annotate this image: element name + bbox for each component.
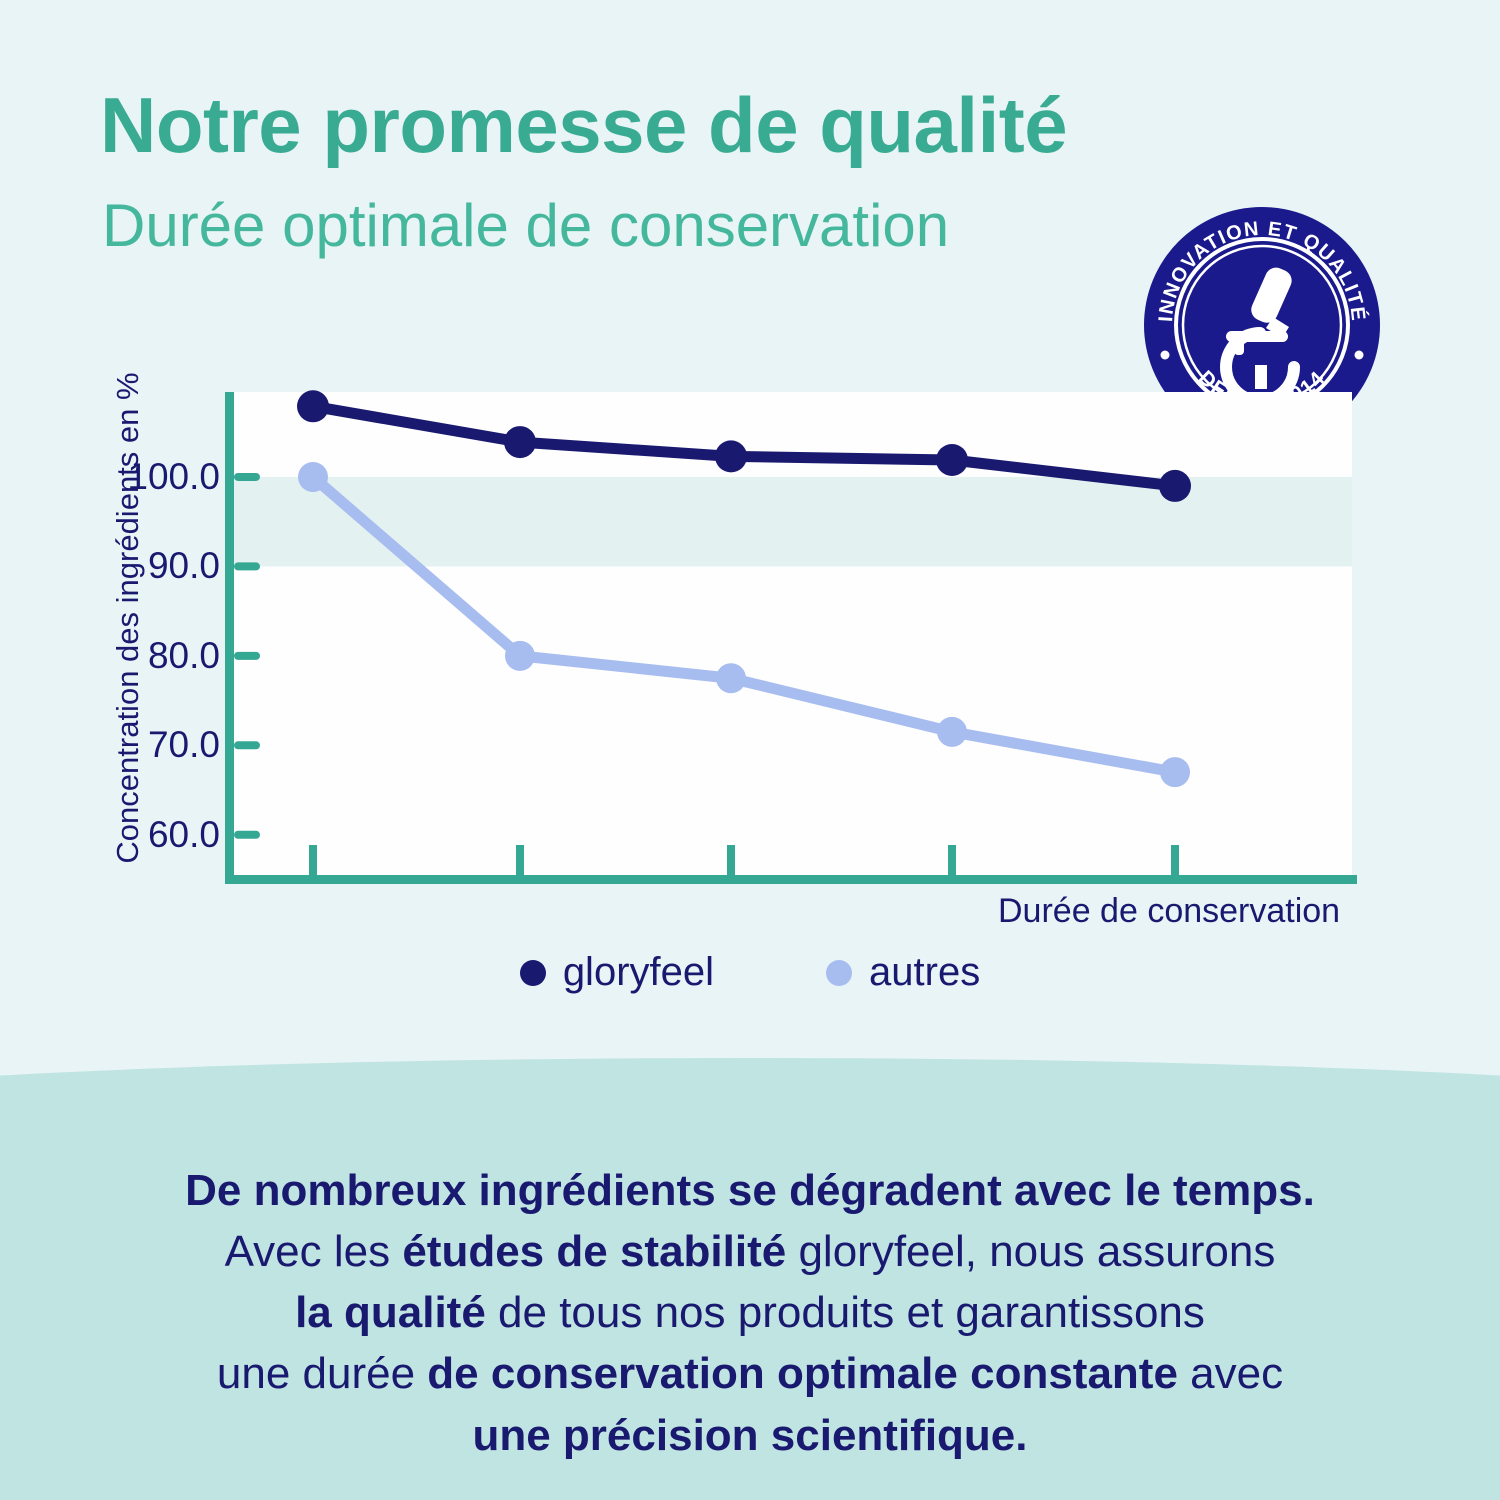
bottom-line5-text: une précision scientifique. (472, 1411, 1027, 1460)
y-axis-tick-100.0 (234, 473, 260, 481)
data-point-gloryfeel-2 (504, 426, 536, 458)
x-axis-line (225, 875, 1357, 884)
x-axis-tick-3 (727, 845, 735, 875)
y-axis-line (225, 392, 234, 880)
bottom-line4a-text: une durée (217, 1349, 427, 1398)
x-axis-tick-5 (1171, 845, 1179, 875)
bottom-line3b-text: de tous nos produits et garantissons (486, 1288, 1205, 1337)
data-point-gloryfeel-3 (715, 440, 747, 472)
data-point-gloryfeel-5 (1159, 470, 1191, 502)
chart-legend: gloryfeelautres (0, 950, 1500, 995)
data-point-autres-2 (505, 641, 535, 671)
legend-label-autres: autres (869, 950, 980, 995)
y-axis-tick-70.0 (234, 741, 260, 749)
bottom-line3a-text: la qualité (295, 1288, 486, 1337)
bottom-line4c-text: avec (1178, 1349, 1283, 1398)
legend-marker-gloryfeel (520, 960, 546, 986)
bottom-line2c-text: gloryfeel, nous assurons (786, 1227, 1275, 1276)
bottom-line2b-text: études de stabilité (402, 1227, 786, 1276)
data-point-autres-4 (937, 717, 967, 747)
y-axis-tick-60.0 (234, 831, 260, 839)
infographic-root: Notre promesse de qualité Durée optimale… (0, 0, 1500, 1500)
chart-container: Concentration des ingrédients en % Durée… (0, 0, 1500, 1050)
x-axis-tick-2 (516, 845, 524, 875)
data-point-autres-1 (298, 462, 328, 492)
plot-background-bands (230, 392, 1352, 875)
bottom-copy-line-1: De nombreux ingrédients se dégradent ave… (0, 1160, 1500, 1221)
bottom-copy: De nombreux ingrédients se dégradent ave… (0, 1160, 1500, 1466)
bottom-line1-text: De nombreux ingrédients se dégradent ave… (185, 1166, 1315, 1215)
legend-label-gloryfeel: gloryfeel (563, 950, 714, 995)
bottom-copy-line-2: Avec les études de stabilité gloryfeel, … (0, 1221, 1500, 1282)
band-lower-white (230, 566, 1352, 875)
y-axis-tick-80.0 (234, 652, 260, 660)
x-axis-tick-4 (948, 845, 956, 875)
data-point-gloryfeel-4 (936, 444, 968, 476)
chart-plot-svg (0, 0, 1500, 1050)
bottom-copy-line-5: une précision scientifique. (0, 1405, 1500, 1466)
data-point-autres-5 (1160, 757, 1190, 787)
bottom-copy-line-4: une durée de conservation optimale const… (0, 1343, 1500, 1404)
band-top-white (230, 392, 1352, 477)
x-axis-tick-1 (309, 845, 317, 875)
legend-item-gloryfeel[interactable]: gloryfeel (520, 950, 714, 995)
bottom-line2a-text: Avec les (225, 1227, 403, 1276)
bottom-line4b-text: de conservation optimale constante (427, 1349, 1178, 1398)
y-axis-tick-90.0 (234, 562, 260, 570)
bottom-copy-line-3: la qualité de tous nos produits et garan… (0, 1282, 1500, 1343)
data-point-gloryfeel-1 (297, 390, 329, 422)
legend-item-autres[interactable]: autres (826, 950, 980, 995)
data-point-autres-3 (716, 663, 746, 693)
legend-marker-autres (826, 960, 852, 986)
